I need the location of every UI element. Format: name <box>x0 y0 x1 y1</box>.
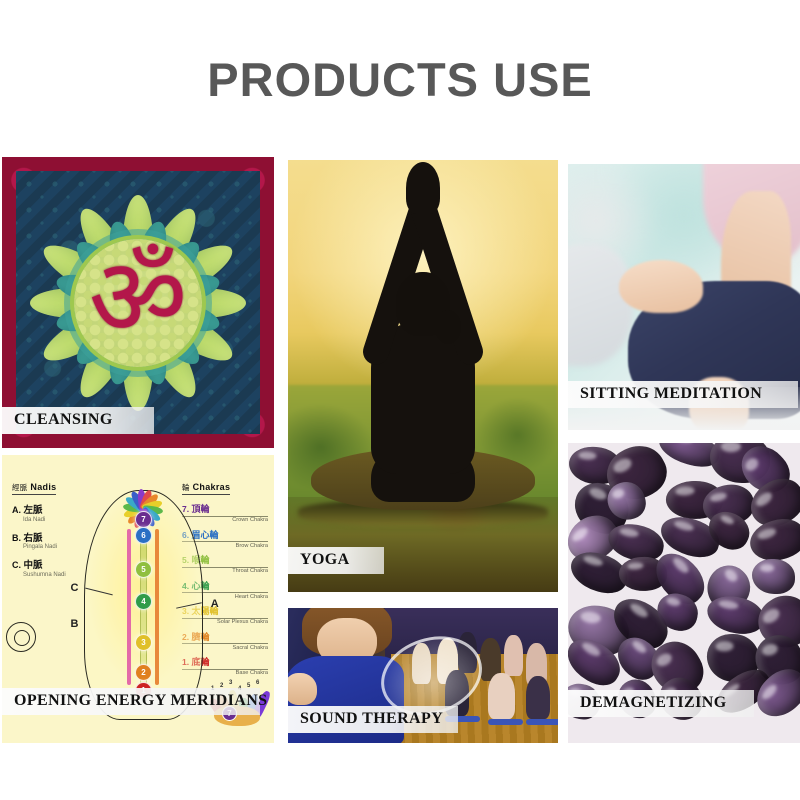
om-symbol-icon: ॐ <box>89 244 188 352</box>
nadi-label-en: Sushumna Nadi <box>23 572 66 578</box>
reflex-number: 6 <box>256 680 259 686</box>
chakra-node-3: 3 <box>135 634 152 651</box>
chakra-node-5: 5 <box>135 561 152 578</box>
ida-nadi-channel <box>127 529 131 684</box>
seated-participant <box>526 676 550 719</box>
nadi-label-cn: B. 右脈 <box>12 530 66 544</box>
practitioner-hand <box>288 673 317 705</box>
nadis-legend-title: 經脈 Nadis <box>12 482 56 495</box>
caption-sitting-meditation: SITTING MEDITATION <box>568 381 798 408</box>
yoga-mat <box>488 719 523 725</box>
page-title: PRODUCTS USE <box>0 52 800 107</box>
chakra-node-6: 6 <box>135 527 152 544</box>
tile-cleansing[interactable]: ॐ CLEANSING <box>2 157 274 448</box>
chakra-item: 7. 頂輪Crown Chakra <box>182 502 268 523</box>
seated-participant <box>504 635 523 676</box>
tile-sitting-meditation[interactable]: SITTING MEDITATION <box>568 164 800 430</box>
caption-opening-energy-meridians: OPENING ENERGY MERIDIANS <box>2 688 260 715</box>
body-marker-a: A <box>211 598 219 610</box>
figure-prayer-hands <box>406 162 440 214</box>
far-leg <box>568 244 633 366</box>
leader-line-a <box>177 602 203 609</box>
nadi-label-cn: A. 左脈 <box>12 502 66 516</box>
seated-body-outline: 7654321 C A B <box>84 490 204 720</box>
foot-reflex-swirl-icon <box>6 622 36 652</box>
mudra-hand <box>619 260 703 313</box>
nadi-item: C. 中脈Sushumna Nadi <box>12 557 66 578</box>
body-marker-c: C <box>70 582 78 594</box>
tile-sound-therapy[interactable]: SOUND THERAPY <box>288 608 558 743</box>
nadi-label-cn: C. 中脈 <box>12 557 66 571</box>
chakra-label-cn: 7. 頂輪 <box>182 502 268 517</box>
caption-cleansing: CLEANSING <box>2 407 154 434</box>
nadi-item: B. 右脈Pingala Nadi <box>12 530 66 551</box>
caption-sound-therapy: SOUND THERAPY <box>288 706 458 733</box>
leader-line-c <box>85 588 113 596</box>
infographic-page: PRODUCTS USE ॐ CLEANSING YOGA <box>0 0 800 800</box>
nadis-list: A. 左脈Ida NadiB. 右脈Pingala NadiC. 中脈Sushu… <box>12 502 66 578</box>
yoga-mat <box>526 719 558 725</box>
amethyst-stone <box>704 593 766 637</box>
reflex-number: 3 <box>229 680 232 686</box>
figure-hair-bun <box>435 310 461 344</box>
nadi-label-en: Ida Nadi <box>23 517 66 523</box>
caption-demagnetizing: DEMAGNETIZING <box>568 690 754 717</box>
body-marker-b: B <box>70 618 78 630</box>
tile-yoga[interactable]: YOGA <box>288 160 558 592</box>
amethyst-stone <box>752 558 795 594</box>
nadi-item: A. 左脈Ida Nadi <box>12 502 66 523</box>
nadi-label-en: Pingala Nadi <box>23 544 66 550</box>
tile-opening-energy-meridians[interactable]: 經脈 Nadis A. 左脈Ida NadiB. 右脈Pingala NadiC… <box>2 455 274 743</box>
chakra-node-4: 4 <box>135 593 152 610</box>
caption-yoga: YOGA <box>288 547 384 574</box>
chakra-node-7: 7 <box>135 511 152 528</box>
tile-demagnetizing[interactable]: DEMAGNETIZING <box>568 443 800 743</box>
seated-participant <box>488 673 515 719</box>
chakras-legend-title: 輪 Chakras <box>182 482 230 495</box>
pingala-nadi-channel <box>155 529 159 684</box>
chakra-node-2: 2 <box>135 664 152 681</box>
chakra-label-en: Crown Chakra <box>182 517 268 523</box>
nadis-legend: 經脈 Nadis A. 左脈Ida NadiB. 右脈Pingala NadiC… <box>12 477 66 585</box>
